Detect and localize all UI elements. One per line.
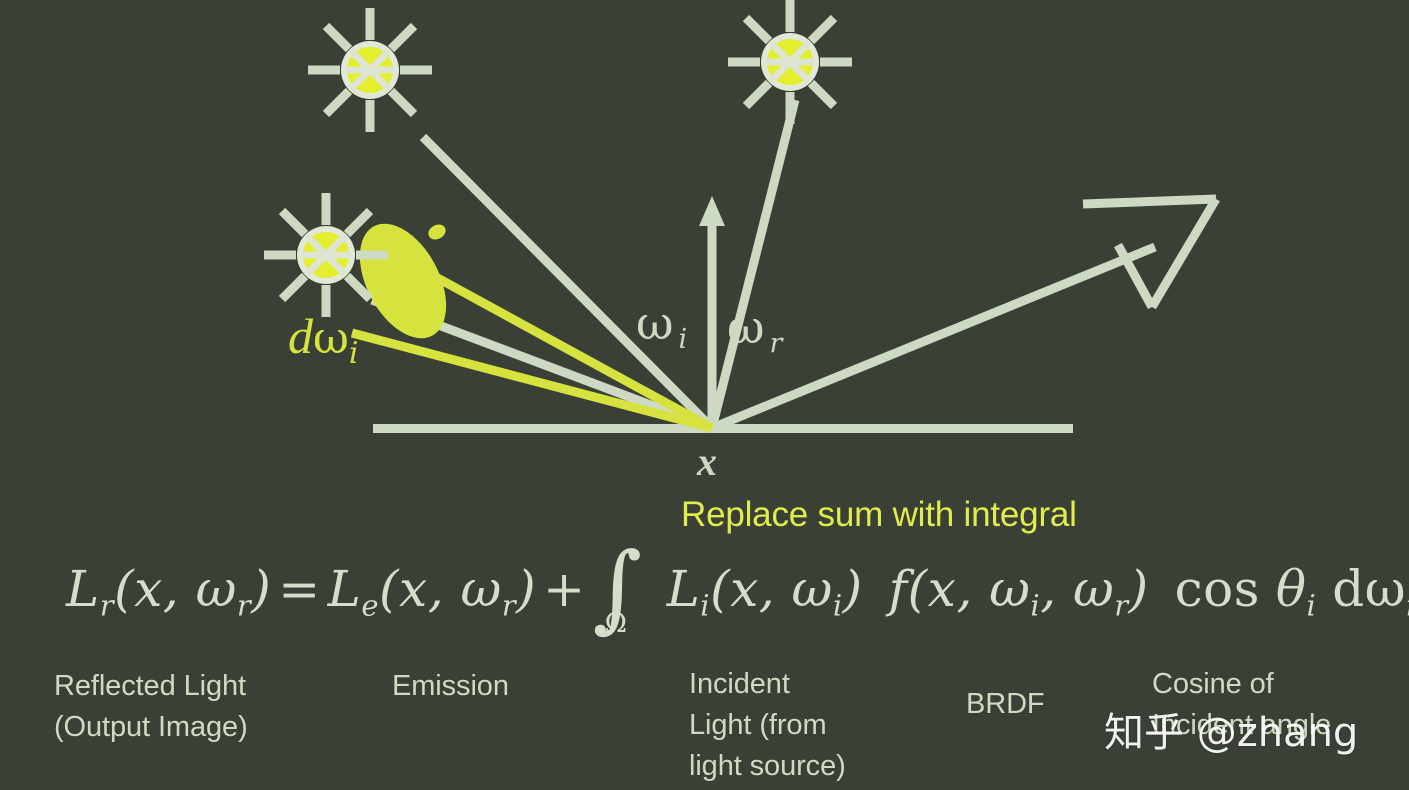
sun-icon-left bbox=[264, 193, 388, 317]
incident-ray-1 bbox=[423, 137, 712, 428]
eq-integral: ∫Ω bbox=[593, 566, 651, 624]
term-label-emission: Emission bbox=[392, 666, 612, 707]
incident-ray-3 bbox=[712, 100, 795, 428]
label-surface-point-x: x bbox=[697, 438, 717, 485]
term-label-reflected-light: Reflected Light (Output Image) bbox=[54, 666, 354, 748]
eq-emission-L: L bbox=[328, 560, 362, 618]
incident-ray-group bbox=[372, 100, 795, 428]
eq-incident-L: L bbox=[667, 560, 701, 618]
caption-replace-sum-with-integral: Replace sum with integral bbox=[681, 495, 1077, 535]
label-omega-r: ωr bbox=[727, 300, 782, 359]
eq-integral-domain: Ω bbox=[605, 608, 628, 639]
rendering-equation: Lr(x, ωr)=Le(x, ωr)+∫ΩLi(x, ωi)f(x, ωi, … bbox=[66, 560, 1409, 624]
eq-lhs-L: L bbox=[66, 560, 100, 618]
eq-cos: cos bbox=[1175, 560, 1260, 618]
label-d-omega-i: dωi bbox=[288, 307, 359, 371]
eq-d-omega: dω bbox=[1332, 560, 1406, 618]
watermark-zhihu: 知乎 @zhang bbox=[1104, 700, 1358, 758]
slide-canvas: ωi ωr dωi x Replace sum with integral Lr… bbox=[0, 0, 1409, 790]
eq-plus: + bbox=[536, 560, 592, 618]
eq-equals: = bbox=[271, 560, 327, 618]
label-omega-i: ωi bbox=[636, 296, 687, 355]
term-label-incident-light: Incident Light (from light source) bbox=[689, 664, 899, 788]
sun-icon-upper-left bbox=[308, 8, 432, 132]
sun-icon-top-right bbox=[728, 0, 852, 124]
eq-brdf-f: f bbox=[889, 560, 908, 618]
term-label-brdf: BRDF bbox=[966, 684, 1126, 725]
